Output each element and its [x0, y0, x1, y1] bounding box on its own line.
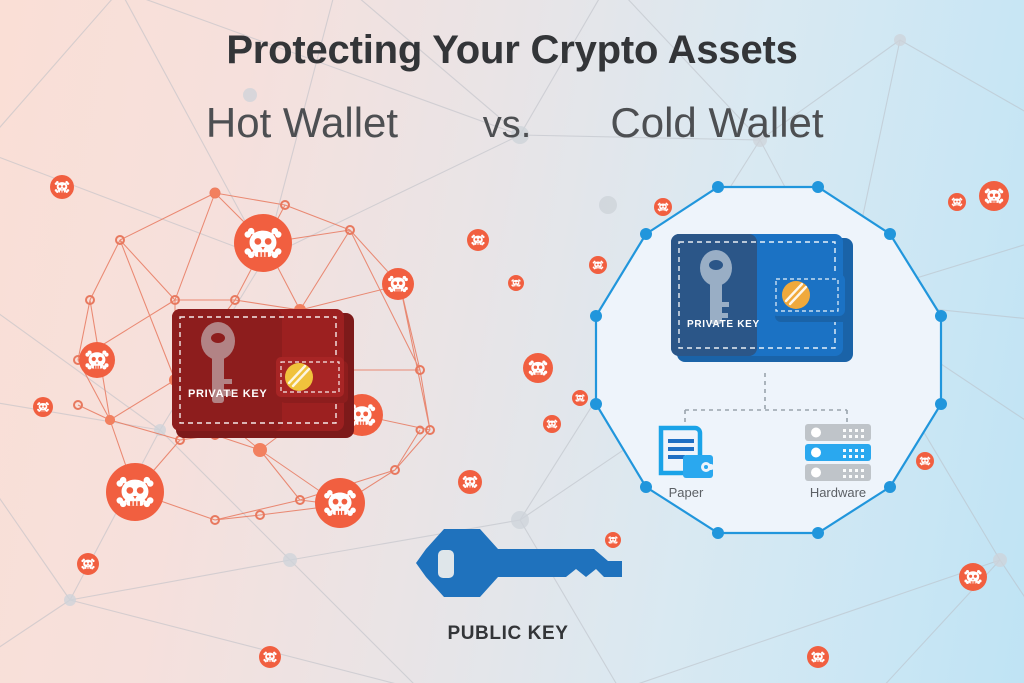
skull-crossbones-icon	[654, 198, 672, 216]
coin-icon	[782, 281, 810, 309]
skull-crossbones-icon	[508, 275, 524, 291]
skull-crossbones-icon	[959, 563, 987, 591]
skull-crossbones-icon	[382, 268, 414, 300]
versus-label: vs.	[432, 104, 582, 147]
page-title: Protecting Your Crypto Assets	[0, 28, 1024, 73]
skull-crossbones-icon	[458, 470, 482, 494]
skull-crossbones-icon	[259, 646, 281, 668]
skull-crossbones-icon	[234, 214, 292, 272]
hot-wallet-graphic	[172, 305, 357, 440]
hot-wallet-private-key-label: PRIVATE KEY	[188, 388, 267, 400]
paper-wallet-icon	[655, 424, 717, 482]
cold-wallet-heading: Cold Wallet	[582, 99, 852, 147]
skull-crossbones-icon	[50, 175, 74, 199]
skull-crossbones-icon	[315, 478, 365, 528]
skull-crossbones-icon	[979, 181, 1009, 211]
skull-crossbones-icon	[807, 646, 829, 668]
public-key-icon	[398, 527, 622, 612]
paper-option-label: Paper	[640, 485, 732, 500]
hardware-wallet-icon	[805, 424, 871, 482]
skull-crossbones-icon	[572, 390, 588, 406]
cold-wallet-private-key-label: PRIVATE KEY	[687, 319, 760, 330]
skull-crossbones-icon	[523, 353, 553, 383]
skull-crossbones-icon	[948, 193, 966, 211]
coin-pocket	[276, 357, 348, 403]
coin-icon	[285, 363, 313, 391]
hardware-option-label: Hardware	[792, 485, 884, 500]
hot-wallet-heading: Hot Wallet	[172, 99, 432, 147]
skull-crossbones-icon	[916, 452, 934, 470]
skull-crossbones-icon	[106, 463, 164, 521]
coin-pocket	[771, 274, 849, 322]
comparison-subtitle: Hot Wallet vs. Cold Wallet	[0, 99, 1024, 147]
public-key-label: PUBLIC KEY	[358, 623, 658, 645]
skull-crossbones-icon	[79, 342, 115, 378]
skull-crossbones-icon	[589, 256, 607, 274]
cold-wallet-graphic	[671, 232, 857, 368]
skull-crossbones-icon	[33, 397, 53, 417]
skull-crossbones-icon	[543, 415, 561, 433]
skull-crossbones-icon	[77, 553, 99, 575]
skull-crossbones-icon	[467, 229, 489, 251]
infographic-canvas: PRIVATE KEY PRIVATE KEY	[0, 0, 1024, 683]
